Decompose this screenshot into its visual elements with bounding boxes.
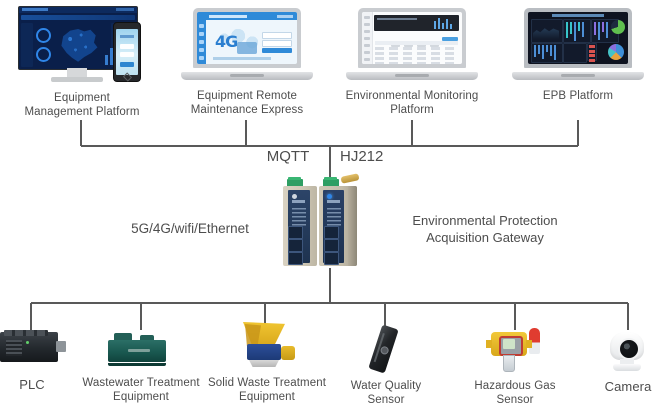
- wastewater-tank-icon: [106, 330, 176, 366]
- node-solid-waste-treatment-equipment[interactable]: Solid Waste Treatment Equipment: [200, 322, 334, 404]
- camera-lens-icon: [618, 338, 640, 360]
- ip-camera-art: [606, 330, 650, 374]
- gateway-unit-right: [319, 186, 357, 266]
- gateway-unit-left: [283, 186, 317, 266]
- water-quality-sensor-icon: [366, 324, 406, 376]
- gateway-label: Environmental Protection Acquisition Gat…: [385, 212, 585, 246]
- node-label-equipment-management-platform: Equipment Management Platform: [17, 92, 147, 119]
- smartphone-icon: [113, 22, 141, 82]
- laptop-data-table-art: [346, 8, 478, 82]
- node-plc[interactable]: PLC: [0, 330, 64, 392]
- shredder-art: [237, 322, 297, 370]
- node-label-hazardous-gas-sensor: Hazardous Gas Sensor: [450, 380, 580, 407]
- plc-module-art: [0, 330, 66, 370]
- node-environmental-monitoring-platform[interactable]: Environmental Monitoring Platform: [345, 8, 479, 117]
- node-equipment-remote-maintenance-express[interactable]: 4G Equipment Remote Maintenance Express: [180, 8, 314, 117]
- laptop-screen: [362, 12, 462, 64]
- diagram-canvas: Equipment Management Platform 4G: [0, 0, 658, 413]
- camera-icon: [606, 330, 650, 372]
- node-label-camera: Camera: [588, 380, 658, 394]
- node-label-equipment-remote-maintenance-express: Equipment Remote Maintenance Express: [180, 90, 314, 117]
- laptop-screen: [528, 12, 628, 64]
- node-water-quality-sensor[interactable]: Water Quality Sensor: [338, 324, 434, 407]
- wastewater-tank-art: [106, 330, 176, 370]
- power-led-icon: [292, 194, 297, 199]
- laptop-lid: [524, 8, 632, 68]
- protocol-label-hj212: HJ212: [340, 148, 410, 165]
- ethernet-port-icon: [324, 239, 339, 252]
- ethernet-port-icon: [324, 226, 339, 239]
- laptop-icon: 4G: [181, 8, 313, 80]
- plc-icon: [0, 330, 66, 366]
- node-label-environmental-monitoring-platform: Environmental Monitoring Platform: [345, 90, 479, 117]
- shredder-icon: [237, 322, 297, 370]
- protocol-label-mqtt: MQTT: [255, 148, 321, 165]
- desktop-monitor-and-phone-art: [18, 6, 146, 86]
- node-label-wastewater-treatment-equipment: Wastewater Treatment Equipment: [72, 377, 210, 404]
- ethernet-port-icon: [288, 239, 303, 252]
- node-hazardous-gas-sensor[interactable]: Hazardous Gas Sensor: [450, 324, 580, 407]
- laptop-icon: [512, 8, 644, 80]
- laptop-lid: 4G: [193, 8, 301, 68]
- ethernet-port-icon: [288, 252, 303, 265]
- node-label-plc: PLC: [0, 378, 64, 392]
- ethernet-port-icon: [288, 226, 303, 239]
- laptop-lid: [358, 8, 466, 68]
- ethernet-port-icon: [324, 252, 339, 265]
- laptop-4g-portal-art: 4G: [181, 8, 313, 82]
- node-label-water-quality-sensor: Water Quality Sensor: [338, 380, 434, 407]
- laptop-screen: 4G: [197, 12, 297, 64]
- node-camera[interactable]: Camera: [588, 330, 658, 394]
- node-label-solid-waste-treatment-equipment: Solid Waste Treatment Equipment: [200, 377, 334, 404]
- gas-detector-art: [487, 324, 543, 374]
- hazardous-gas-sensor-icon: [487, 324, 543, 376]
- node-equipment-management-platform[interactable]: Equipment Management Platform: [17, 6, 147, 119]
- laptop-dark-dashboard-art: [512, 8, 644, 82]
- node-epb-platform[interactable]: EPB Platform: [511, 8, 645, 104]
- node-label-epb-platform: EPB Platform: [511, 90, 645, 104]
- laptop-icon: [346, 8, 478, 80]
- environmental-protection-acquisition-gateway-device[interactable]: [283, 178, 361, 270]
- antenna-connector-icon: [340, 173, 359, 184]
- node-wastewater-treatment-equipment[interactable]: Wastewater Treatment Equipment: [72, 330, 210, 404]
- monitor-base: [51, 77, 103, 82]
- water-probe-art: [366, 324, 406, 374]
- phone-screen: [116, 29, 138, 75]
- connectivity-label: 5G/4G/wifi/Ethernet: [110, 221, 270, 236]
- status-led-icon: [327, 194, 332, 199]
